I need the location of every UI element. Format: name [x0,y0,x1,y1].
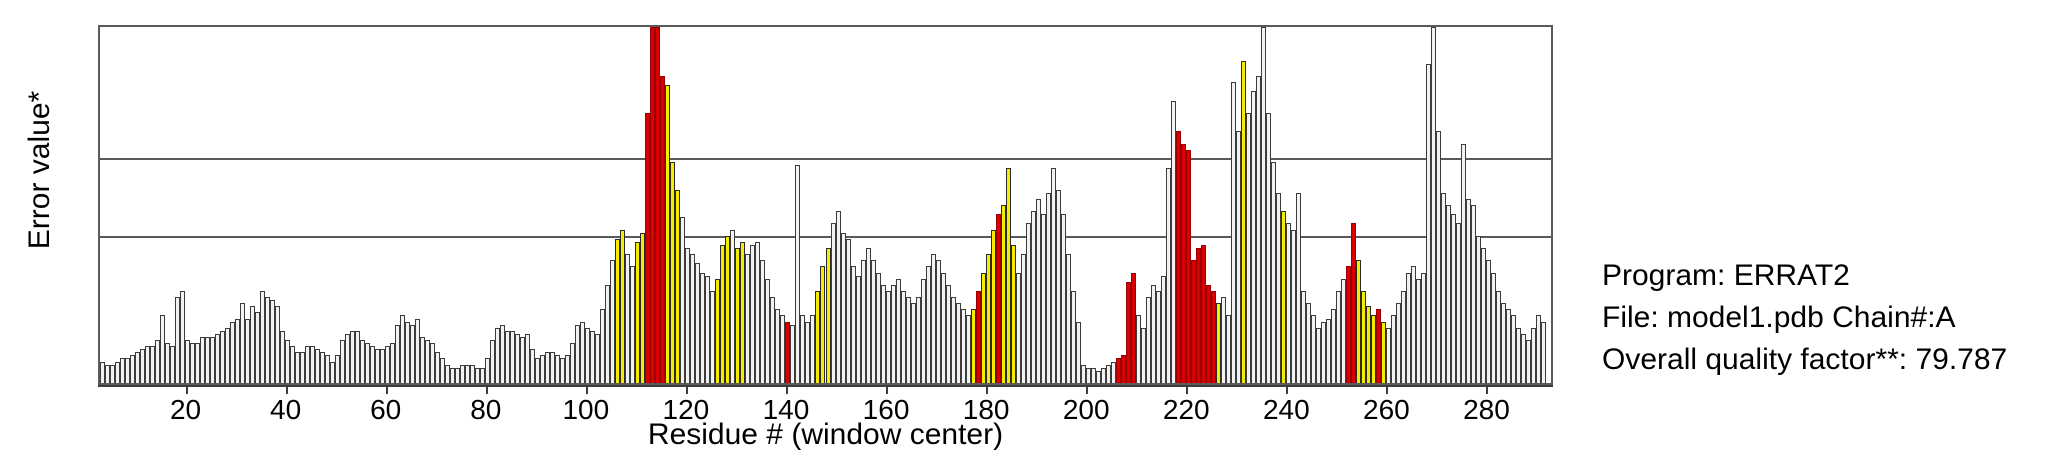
bar [620,230,625,383]
bar [826,248,831,383]
bar [1216,303,1221,383]
bar [675,190,680,383]
bar [740,242,745,383]
bar [660,76,665,383]
x-tick-mark [886,385,888,394]
info-panel: Program: ERRAT2 File: model1.pdb Chain#:… [1602,255,2042,381]
bar [725,236,730,383]
bar [1376,309,1381,383]
bar [976,291,981,383]
x-tick-mark [586,385,588,394]
bar [996,214,1001,383]
bar [1281,211,1286,383]
info-quality: Overall quality factor**: 79.787 [1602,339,2042,381]
x-tick-mark [1186,385,1188,394]
x-tick-mark [1486,385,1488,394]
bar [1381,322,1386,383]
bar [1131,273,1136,383]
info-program: Program: ERRAT2 [1602,255,2042,297]
y-axis-title: Error value* [23,65,63,275]
x-tick-mark [1286,385,1288,394]
errat-plot-figure: Error value* 99% 95% 2040608010012014016… [0,0,2052,462]
bar [1541,322,1546,383]
x-tick-mark [1386,385,1388,394]
bar-series [100,27,1551,383]
x-tick-mark [786,385,788,394]
x-tick-mark [286,385,288,394]
x-tick-mark [986,385,988,394]
x-tick-mark [486,385,488,394]
x-tick-mark [1086,385,1088,394]
bar [1011,245,1016,383]
x-tick-mark [686,385,688,394]
bar [1211,291,1216,383]
x-tick-mark [186,385,188,394]
x-axis-line [98,385,1553,387]
x-tick-mark [386,385,388,394]
info-file: File: model1.pdb Chain#:A [1602,297,2042,339]
bar [785,322,790,383]
bar [1241,61,1246,383]
x-axis-title: Residue # (window center) [98,418,1553,452]
bar [1351,223,1356,383]
plot-area [98,25,1553,385]
